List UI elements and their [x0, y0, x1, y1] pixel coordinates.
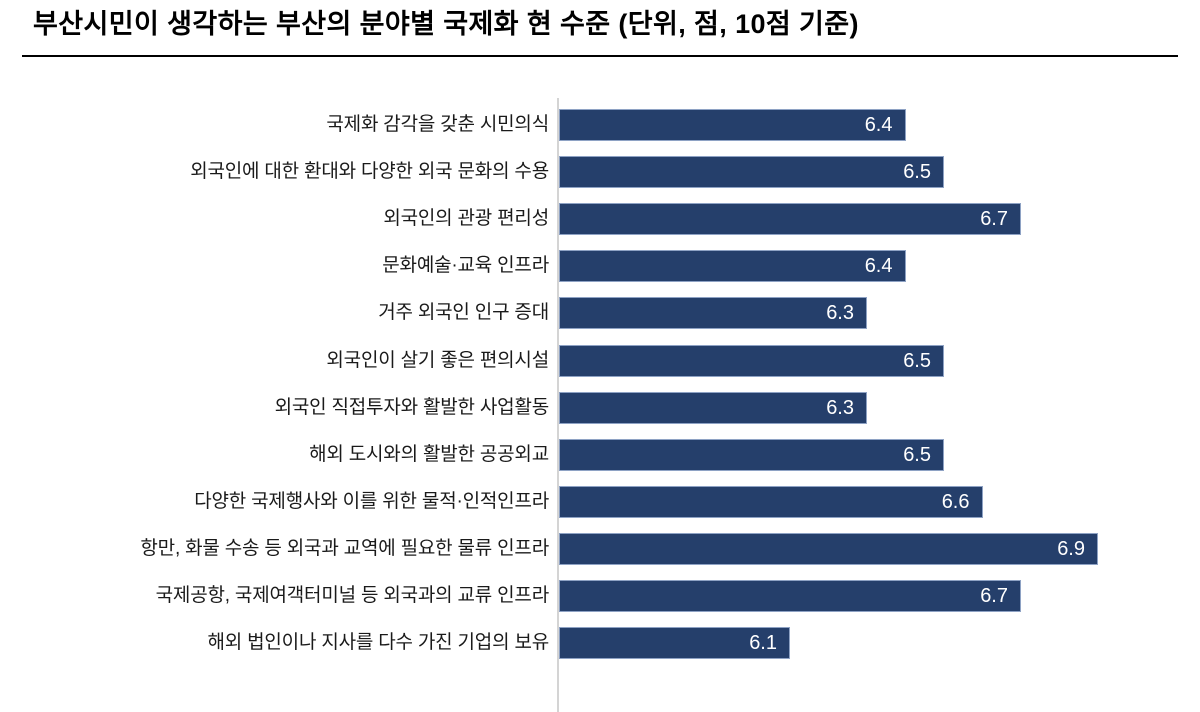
bar[interactable]: 6.4: [559, 250, 906, 282]
bar-row: 문화예술·교육 인프라6.4: [0, 250, 1200, 282]
bar-container: 6.6: [559, 486, 983, 518]
bar[interactable]: 6.9: [559, 533, 1098, 565]
bar[interactable]: 6.7: [559, 203, 1021, 235]
bar-row: 외국인이 살기 좋은 편의시설6.5: [0, 345, 1200, 377]
bar[interactable]: 6.4: [559, 109, 906, 141]
bar[interactable]: 6.5: [559, 345, 944, 377]
bar-value-label: 6.3: [826, 303, 866, 323]
bar-series: 국제화 감각을 갖춘 시민의식6.4외국인에 대한 환대와 다양한 외국 문화의…: [0, 60, 1200, 681]
chart-plot-area: 국제화 감각을 갖춘 시민의식6.4외국인에 대한 환대와 다양한 외국 문화의…: [0, 60, 1200, 681]
bar-row: 해외 도시와의 활발한 공공외교6.5: [0, 439, 1200, 471]
bar-row: 거주 외국인 인구 증대6.3: [0, 297, 1200, 329]
title-divider: [22, 55, 1178, 57]
bar-value-label: 6.5: [903, 445, 943, 465]
bar-row: 해외 법인이나 지사를 다수 가진 기업의 보유6.1: [0, 627, 1200, 659]
bar-container: 6.5: [559, 439, 944, 471]
bar-value-label: 6.3: [826, 398, 866, 418]
category-label: 거주 외국인 인구 증대: [378, 297, 549, 329]
category-label: 국제화 감각을 갖춘 시민의식: [326, 109, 549, 141]
bar-row: 항만, 화물 수송 등 외국과 교역에 필요한 물류 인프라6.9: [0, 533, 1200, 565]
bar[interactable]: 6.1: [559, 627, 790, 659]
bar-value-label: 6.4: [865, 256, 905, 276]
page-title: 부산시민이 생각하는 부산의 분야별 국제화 현 수준 (단위, 점, 10점 …: [33, 7, 859, 41]
bar-row: 외국인에 대한 환대와 다양한 외국 문화의 수용6.5: [0, 156, 1200, 188]
bar-row: 국제화 감각을 갖춘 시민의식6.4: [0, 109, 1200, 141]
bar[interactable]: 6.6: [559, 486, 983, 518]
category-label: 항만, 화물 수송 등 외국과 교역에 필요한 물류 인프라: [140, 533, 549, 565]
bar-row: 외국인 직접투자와 활발한 사업활동6.3: [0, 392, 1200, 424]
category-label: 해외 도시와의 활발한 공공외교: [309, 439, 549, 471]
bar-container: 6.4: [559, 109, 906, 141]
bar-row: 외국인의 관광 편리성6.7: [0, 203, 1200, 235]
category-label: 국제공항, 국제여객터미널 등 외국과의 교류 인프라: [156, 580, 549, 612]
category-label: 문화예술·교육 인프라: [382, 250, 549, 282]
bar-value-label: 6.7: [980, 586, 1020, 606]
bar-value-label: 6.7: [980, 209, 1020, 229]
bar-container: 6.9: [559, 533, 1098, 565]
bar-value-label: 6.6: [942, 492, 982, 512]
bar-value-label: 6.4: [865, 115, 905, 135]
bar-container: 6.5: [559, 156, 944, 188]
category-label: 외국인 직접투자와 활발한 사업활동: [275, 392, 549, 424]
bar[interactable]: 6.7: [559, 580, 1021, 612]
bar-row: 국제공항, 국제여객터미널 등 외국과의 교류 인프라6.7: [0, 580, 1200, 612]
bar[interactable]: 6.3: [559, 392, 867, 424]
chart-header: 부산시민이 생각하는 부산의 분야별 국제화 현 수준 (단위, 점, 10점 …: [0, 0, 1200, 60]
bar-value-label: 6.9: [1057, 539, 1097, 559]
category-label: 외국인이 살기 좋은 편의시설: [326, 345, 549, 377]
bar[interactable]: 6.5: [559, 439, 944, 471]
bar-container: 6.4: [559, 250, 906, 282]
bar-container: 6.7: [559, 580, 1021, 612]
bar[interactable]: 6.3: [559, 297, 867, 329]
category-label: 외국인에 대한 환대와 다양한 외국 문화의 수용: [190, 156, 549, 188]
bar-value-label: 6.5: [903, 351, 943, 371]
bar-container: 6.7: [559, 203, 1021, 235]
bar-row: 다양한 국제행사와 이를 위한 물적·인적인프라6.6: [0, 486, 1200, 518]
bar-container: 6.3: [559, 392, 867, 424]
bar-container: 6.5: [559, 345, 944, 377]
category-label: 해외 법인이나 지사를 다수 가진 기업의 보유: [207, 627, 549, 659]
bar-value-label: 6.5: [903, 162, 943, 182]
bar-value-label: 6.1: [749, 633, 789, 653]
category-label: 외국인의 관광 편리성: [383, 203, 549, 235]
bar-container: 6.1: [559, 627, 790, 659]
category-label: 다양한 국제행사와 이를 위한 물적·인적인프라: [194, 486, 549, 518]
bar-container: 6.3: [559, 297, 867, 329]
bar[interactable]: 6.5: [559, 156, 944, 188]
